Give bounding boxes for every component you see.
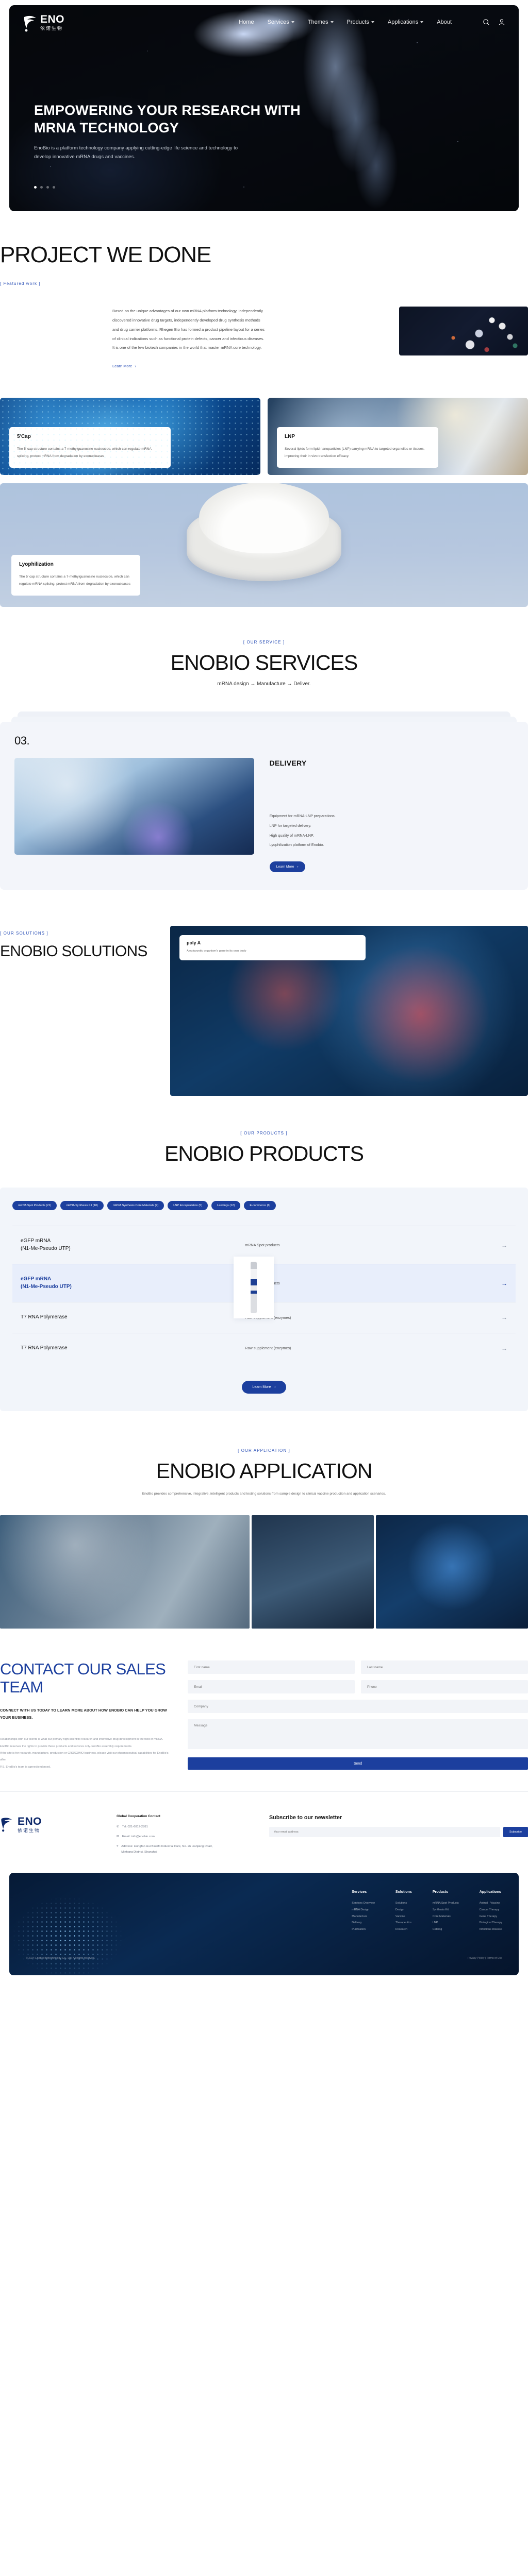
service-bullet: High quality of mRNA-LNP. (270, 831, 514, 841)
products-eyebrow: [ OUR PRODUCTS ] (0, 1131, 528, 1136)
last-name-field[interactable] (361, 1660, 528, 1674)
lyophilization-text: The 5' cap structure contains a 7-methyl… (19, 573, 133, 588)
nav-label: Applications (388, 19, 418, 25)
main-navigation[interactable]: ENO 依诺生物 Home Services Themes Products A… (9, 5, 519, 32)
product-tag-landings[interactable]: Landings (12) (211, 1201, 240, 1210)
footer-link[interactable]: Manufacture (352, 1913, 375, 1920)
petri-dish-image (187, 504, 341, 581)
footer-link[interactable]: mRNA Spot Products (433, 1900, 459, 1907)
project-title: PROJECT WE DONE (0, 242, 528, 268)
footer-column-title: Services (352, 1890, 375, 1894)
page-root: ENO 依诺生物 Home Services Themes Products A… (0, 0, 528, 1985)
footer-link[interactable]: Solutions (395, 1900, 412, 1907)
logo-name-cn: 依诺生物 (40, 26, 64, 31)
product-name: T7 RNA Polymerase (21, 1314, 235, 1321)
product-tag-ecommerce[interactable]: E-commerce (6) (244, 1201, 276, 1210)
footer-column-products: Products mRNA Spot Products Synthesis Ki… (433, 1890, 459, 1933)
subscribe-row: Subscribe (269, 1827, 528, 1837)
footer-link[interactable]: Design (395, 1907, 412, 1913)
product-tag-lnp[interactable]: LNP Encapsulation (5) (168, 1201, 208, 1210)
contact-legal: Relationships with our clients is what o… (0, 1736, 170, 1771)
logo-name-en: ENO (18, 1816, 42, 1827)
application-eyebrow: [ OUR APPLICATION ] (0, 1448, 528, 1453)
contact-subtitle: CONNECT WITH US TODAY TO LEARN MORE ABOU… (0, 1707, 170, 1722)
services-ghost-card-2 (11, 717, 517, 722)
footer-column-title: Products (433, 1890, 459, 1894)
application-image-2[interactable] (252, 1515, 373, 1629)
products-title: ENOBIO PRODUCTS (0, 1143, 528, 1165)
contact-left: CONTACT OUR SALES TEAM CONNECT WITH US T… (0, 1660, 170, 1771)
services-card-bullets: Equipment for mRNA-LNP preparations. LNP… (270, 811, 514, 850)
services-card-image (14, 758, 254, 855)
nav-label: Services (268, 19, 289, 25)
site-footer: Services Services Overview mRNA Design M… (9, 1873, 519, 1975)
solutions-chip-card: poly A A eukaryotic organism's gene in i… (179, 935, 366, 960)
product-filter-tags[interactable]: mRNA Spot Products (21) mRNA Synthesis K… (12, 1201, 516, 1210)
footer-inner: Services Services Overview mRNA Design M… (26, 1890, 502, 1933)
slider-dot-4[interactable] (53, 186, 55, 189)
products-panel: mRNA Spot Products (21) mRNA Synthesis K… (0, 1188, 528, 1411)
solutions-eyebrow: [ OUR SOLUTIONS ] (0, 931, 155, 936)
footer-phone: Tel: 021-6812-2881 (122, 1824, 148, 1830)
application-subtitle: EnoBio provides comprehensive, integrati… (0, 1490, 528, 1498)
footer-logo[interactable]: ENO 依诺生物 (0, 1815, 103, 1834)
logo-name-en: ENO (40, 14, 64, 25)
legal-line: P.S. EnoBio's team is agreed/endorsed. (0, 1764, 170, 1771)
services-eyebrow: [ OUR SERVICE ] (0, 640, 528, 645)
chevron-down-icon (371, 21, 374, 23)
phone-field[interactable] (361, 1680, 528, 1693)
solutions-chip-text: A eukaryotic organism's gene in its own … (187, 949, 358, 954)
subscribe-heading: Subscribe to our newsletter (269, 1815, 528, 1821)
arrow-right-icon[interactable]: → (498, 1314, 507, 1321)
button-label: Learn More (276, 865, 294, 869)
footer-column-title: Solutions (395, 1890, 412, 1894)
services-card-stack: 03. DELIVERY Equipment for mRNA-LNP prep… (0, 711, 528, 890)
hero-slider-dots[interactable] (34, 186, 55, 189)
chevron-right-icon: › (135, 364, 136, 368)
location-pin-icon: ⌖ (117, 1844, 118, 1850)
footer-bottom-bar: © 2024 EnoBio Biotechnology Co., Ltd. Al… (26, 1957, 502, 1960)
nav-item-services[interactable]: Services (268, 19, 294, 25)
services-subtitle: mRNA design → Manufacture → Deliver. (0, 681, 528, 687)
email-field[interactable] (188, 1680, 355, 1693)
services-title: ENOBIO SERVICES (0, 652, 528, 674)
services-card: 03. DELIVERY Equipment for mRNA-LNP prep… (0, 722, 528, 890)
project-image (399, 307, 528, 355)
footer-link[interactable]: mRNA Design (352, 1907, 375, 1913)
hero-copy: EMPOWERING YOUR RESEARCH WITH MRNA TECHN… (34, 101, 323, 162)
products-learn-more-button[interactable]: Learn More › (242, 1381, 286, 1394)
user-icon[interactable] (498, 19, 505, 26)
footer-link-columns[interactable]: Services Services Overview mRNA Design M… (352, 1890, 502, 1933)
nav-item-about[interactable]: About (437, 19, 452, 25)
message-field[interactable] (188, 1719, 528, 1749)
arrow-right-icon[interactable]: → (498, 1242, 507, 1249)
subscribe-button[interactable]: Subscribe (503, 1827, 528, 1837)
hero-section: ENO 依诺生物 Home Services Themes Products A… (9, 5, 519, 211)
vial-image (251, 1262, 257, 1313)
footer-subscribe: Subscribe to our newsletter Subscribe (269, 1815, 528, 1837)
chevron-down-icon (291, 21, 294, 23)
hero-subtitle: EnoBio is a platform technology company … (34, 144, 240, 162)
footer-column-title: Applications (480, 1890, 502, 1894)
hero-title: EMPOWERING YOUR RESEARCH WITH MRNA TECHN… (34, 101, 323, 137)
first-name-field[interactable] (188, 1660, 355, 1674)
services-card-left: 03. (14, 734, 254, 872)
legal-line: If the site is for research, manufacture… (0, 1750, 170, 1764)
nav-links[interactable]: Home Services Themes Products Applicatio… (239, 19, 505, 26)
services-card-right: DELIVERY Equipment for mRNA-LNP preparat… (270, 734, 514, 872)
services-learn-more-button[interactable]: Learn More › (270, 861, 305, 872)
footer-link[interactable]: Services Overview (352, 1900, 375, 1907)
footer-link[interactable]: Research (395, 1926, 412, 1933)
product-vial-thumbnail (234, 1257, 274, 1318)
product-tag-core-materials[interactable]: mRNA Synthesis Core Materials (9) (107, 1201, 164, 1210)
lyophilization-banner[interactable]: Lyophilization The 5' cap structure cont… (0, 483, 528, 607)
footer-link[interactable]: Synthesis Kit (433, 1907, 459, 1913)
nav-item-home[interactable]: Home (239, 19, 254, 25)
product-tag-synthesis-kit[interactable]: mRNA Synthesis Kit (18) (60, 1201, 104, 1210)
form-row (188, 1700, 528, 1713)
footer-contact-heading: Global Cooperation Contact (117, 1815, 256, 1818)
footer-link[interactable]: Core Materials (433, 1913, 459, 1920)
solutions-chip-title: poly A (187, 940, 358, 945)
form-row (188, 1680, 528, 1693)
feature-card-body: 5'Cap The 5' cap structure contains a 7-… (9, 427, 171, 468)
footer-email: Email: info@enobio.com (122, 1834, 155, 1840)
nav-label: About (437, 19, 452, 25)
lyophilization-title: Lyophilization (19, 562, 133, 567)
project-learn-more-link[interactable]: Learn More › (112, 364, 136, 368)
application-gallery (0, 1515, 528, 1629)
chevron-right-icon: › (297, 865, 298, 869)
solutions-title: ENOBIO SOLUTIONS (0, 943, 155, 960)
eno-logo-icon (0, 1815, 18, 1834)
product-category: mRNA Spot products (245, 1281, 488, 1285)
footer-link[interactable]: Cancer Therapy (480, 1907, 502, 1913)
feature-card-title: 5'Cap (17, 434, 163, 439)
chevron-down-icon (331, 21, 334, 23)
footer-copyright: © 2024 EnoBio Biotechnology Co., Ltd. Al… (26, 1957, 95, 1960)
service-bullet: Lyophilization platform of Enobio. (270, 840, 514, 850)
chevron-down-icon (420, 21, 423, 23)
contact-title: CONTACT OUR SALES TEAM (0, 1660, 170, 1696)
logo-name-cn: 依诺生物 (18, 1828, 42, 1833)
footer-legal-links[interactable]: Privacy Policy | Terms of Use (468, 1957, 502, 1960)
slider-dot-1[interactable] (34, 186, 37, 189)
services-card-number: 03. (14, 734, 254, 748)
button-label: Learn More (252, 1385, 271, 1389)
legal-line: Relationships with our clients is what o… (0, 1736, 170, 1743)
product-category: mRNA Spot products (245, 1243, 488, 1247)
services-section: [ OUR SERVICE ] ENOBIO SERVICES mRNA des… (0, 607, 528, 890)
legal-line: EnoBio reserves the rights to provide th… (0, 1743, 170, 1750)
footer-link[interactable]: LNP (433, 1920, 459, 1926)
site-logo[interactable]: ENO 依诺生物 (23, 12, 64, 32)
application-title: ENOBIO APPLICATION (0, 1460, 528, 1482)
project-row: Based on the unique advantages of our ow… (0, 307, 528, 370)
nav-label: Products (347, 19, 369, 25)
phone-icon: ✆ (117, 1824, 119, 1830)
project-body: Based on the unique advantages of our ow… (112, 307, 267, 352)
footer-column-services: Services Services Overview mRNA Design M… (352, 1890, 375, 1933)
feature-card-lnp[interactable]: LNP Several lipids form lipid nanopartic… (268, 398, 528, 475)
slider-dot-3[interactable] (46, 186, 49, 189)
footer-contact-line: ✆ Tel: 021-6812-2881 (117, 1824, 256, 1830)
project-eyebrow: [ Featured work ] (0, 281, 528, 286)
footer-logo-lockup: ENO 依诺生物 (0, 1815, 103, 1834)
products-section: [ OUR PRODUCTS ] ENOBIO PRODUCTS mRNA Sp… (0, 1096, 528, 1411)
feature-card-text: Several lipids form lipid nanoparticles … (285, 446, 431, 460)
solutions-left: [ OUR SOLUTIONS ] ENOBIO SOLUTIONS (0, 926, 155, 960)
contact-form[interactable]: Send (188, 1660, 528, 1770)
nav-icon-group[interactable] (483, 19, 505, 26)
products-table: eGFP mRNA(N1-Me-Pseudo UTP) mRNA Spot pr… (12, 1226, 516, 1363)
footer-link[interactable]: Catalog (433, 1926, 459, 1933)
application-section: [ OUR APPLICATION ] ENOBIO APPLICATION E… (0, 1411, 528, 1629)
project-section: PROJECT WE DONE [ Featured work ] Based … (0, 211, 528, 607)
lyophilization-card: Lyophilization The 5' cap structure cont… (11, 555, 140, 596)
arrow-right-icon[interactable]: → (498, 1280, 507, 1287)
nav-item-themes[interactable]: Themes (308, 19, 334, 25)
feature-card-title: LNP (285, 434, 431, 439)
form-row (188, 1660, 528, 1674)
footer-link[interactable]: Purification (352, 1926, 375, 1933)
feature-card-text: The 5' cap structure contains a 7-methyl… (17, 446, 163, 460)
product-tag-spot[interactable]: mRNA Spot Products (21) (12, 1201, 57, 1210)
product-category: Raw supplement (enzymes) (245, 1346, 488, 1350)
arrow-right-icon[interactable]: → (498, 1345, 507, 1352)
nav-item-products[interactable]: Products (347, 19, 374, 25)
project-copy: Based on the unique advantages of our ow… (112, 307, 267, 370)
nav-label: Home (239, 19, 254, 25)
footer-link[interactable]: Delivery (352, 1920, 375, 1926)
footer-contact-column: Global Cooperation Contact ✆ Tel: 021-68… (117, 1815, 256, 1859)
application-image-1[interactable] (0, 1515, 250, 1629)
form-row (188, 1719, 528, 1749)
product-category: Raw supplement (enzymes) (245, 1315, 488, 1320)
send-button[interactable]: Send (188, 1757, 528, 1770)
footer-wordmark: ENO 依诺生物 (18, 1816, 42, 1833)
services-ghost-card-1 (18, 711, 510, 717)
nav-item-applications[interactable]: Applications (388, 19, 423, 25)
footer-link[interactable]: Animal · Vaccine (480, 1900, 502, 1907)
table-row[interactable]: T7 RNA Polymerase Raw supplement (enzyme… (12, 1333, 516, 1364)
product-name: T7 RNA Polymerase (21, 1345, 235, 1352)
company-field[interactable] (188, 1700, 528, 1713)
search-icon[interactable] (483, 19, 490, 26)
footer-address: Address: Hongfan Hui Bioinfo Industrial … (121, 1844, 212, 1855)
solutions-image[interactable]: poly A A eukaryotic organism's gene in i… (170, 926, 528, 1096)
footer-link[interactable]: Biological Therapy (480, 1920, 502, 1926)
eno-logo-icon (23, 12, 40, 32)
services-card-title: DELIVERY (270, 759, 514, 767)
solutions-section: [ OUR SOLUTIONS ] ENOBIO SOLUTIONS poly … (0, 890, 528, 1096)
footer-contact-line: ✉ Email: info@enobio.com (117, 1834, 256, 1840)
mail-icon: ✉ (117, 1834, 119, 1840)
slider-dot-2[interactable] (40, 186, 43, 189)
footer-link[interactable]: Infectious Disease (480, 1926, 502, 1933)
logo-wordmark: ENO 依诺生物 (40, 14, 64, 31)
product-name: eGFP mRNA(N1-Me-Pseudo UTP) (21, 1276, 235, 1291)
learn-more-label: Learn More (112, 364, 132, 368)
footer-link[interactable]: Therapeutics (395, 1920, 412, 1926)
chevron-right-icon: › (274, 1385, 275, 1389)
application-image-3[interactable] (376, 1515, 528, 1629)
footer-column-applications: Applications Animal · Vaccine Cancer The… (480, 1890, 502, 1933)
footer-contact-line: ⌖ Address: Hongfan Hui Bioinfo Industria… (117, 1844, 256, 1855)
contact-section: CONTACT OUR SALES TEAM CONNECT WITH US T… (0, 1629, 528, 1771)
footer-contact-bar: ENO 依诺生物 Global Cooperation Contact ✆ Te… (0, 1791, 528, 1873)
footer-column-solutions: Solutions Solutions Design Vaccine Thera… (395, 1890, 412, 1933)
nav-label: Themes (308, 19, 328, 25)
feature-card-5cap[interactable]: 5'Cap The 5' cap structure contains a 7-… (0, 398, 260, 475)
footer-link[interactable]: Gene Therapy (480, 1913, 502, 1920)
service-bullet: Equipment for mRNA-LNP preparations. (270, 811, 514, 821)
product-name: eGFP mRNA(N1-Me-Pseudo UTP) (21, 1238, 235, 1252)
footer-link[interactable]: Vaccine (395, 1913, 412, 1920)
feature-cards: 5'Cap The 5' cap structure contains a 7-… (0, 398, 528, 475)
feature-card-body: LNP Several lipids form lipid nanopartic… (277, 427, 438, 468)
products-footer: Learn More › (12, 1381, 516, 1394)
subscribe-email-input[interactable] (269, 1827, 500, 1837)
service-bullet: LNP for targeted delivery. (270, 821, 514, 831)
